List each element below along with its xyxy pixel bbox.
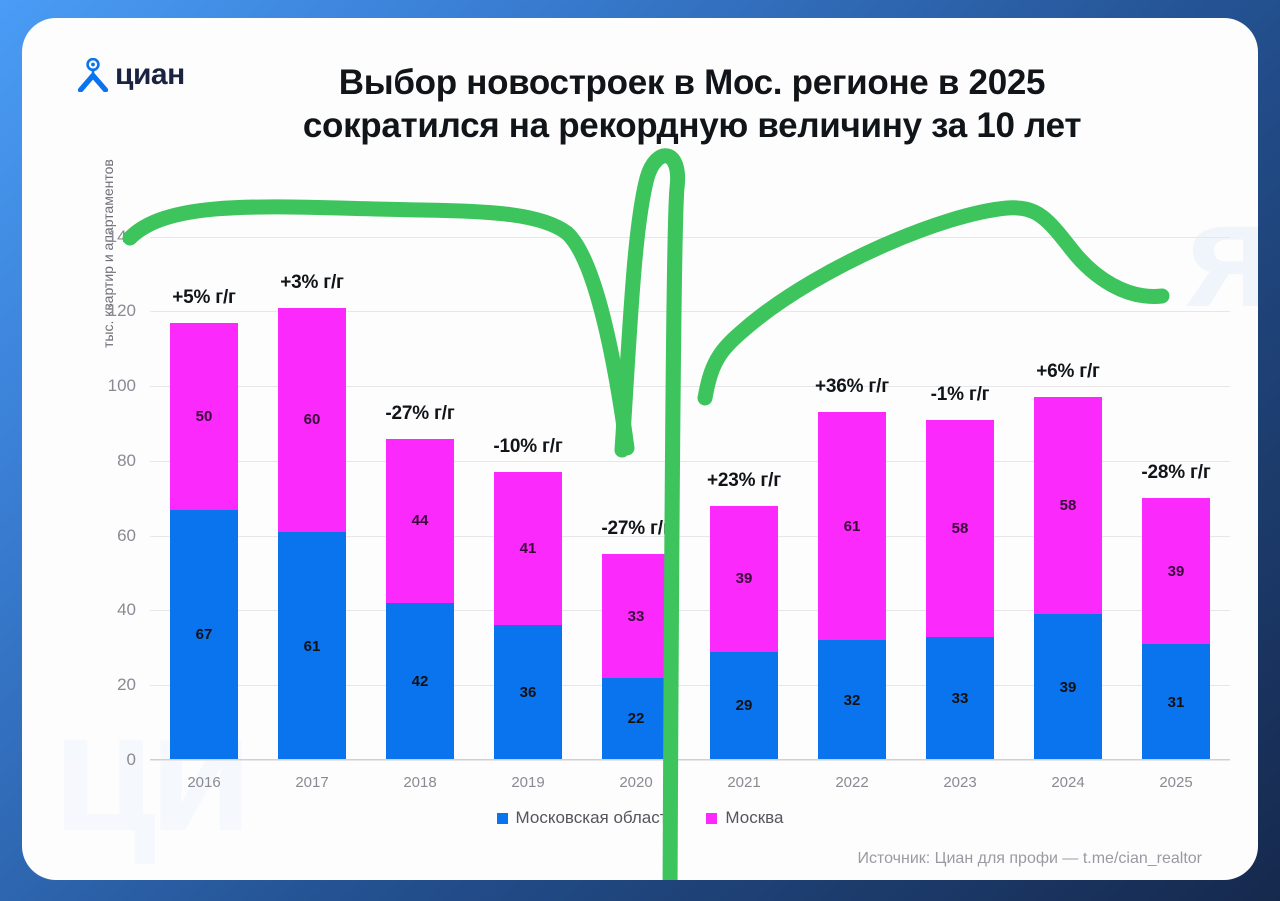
- bar-value-label: 33: [628, 608, 645, 625]
- x-axis-tick: 2016: [170, 774, 238, 791]
- bar-value-label: 58: [952, 520, 969, 537]
- growth-label: -27% г/г: [561, 518, 711, 540]
- bar-segment-moscow-region[interactable]: 31: [1142, 644, 1210, 760]
- legend-label: Москва: [725, 808, 783, 828]
- bar-segment-moscow[interactable]: 39: [1142, 498, 1210, 644]
- brand-logo: циан: [78, 58, 185, 92]
- y-axis-tick: 0: [127, 750, 136, 770]
- bar-segment-moscow-region[interactable]: 33: [926, 637, 994, 760]
- bar-value-label: 32: [844, 692, 861, 709]
- x-axis-tick: 2020: [602, 774, 670, 791]
- bar-value-label: 41: [520, 540, 537, 557]
- growth-label: -27% г/г: [345, 403, 495, 425]
- outer-frame: я ци циан Выбор новостроек в Мос. регион…: [0, 0, 1280, 901]
- bar-value-label: 60: [304, 411, 321, 428]
- x-axis-line: [150, 759, 1230, 761]
- bar-segment-moscow[interactable]: 39: [710, 506, 778, 652]
- bar-column[interactable]: 61602017: [278, 308, 346, 760]
- y-axis-tick: 40: [117, 600, 136, 620]
- bar-segment-moscow[interactable]: 50: [170, 323, 238, 510]
- bar-column[interactable]: 67502016: [170, 323, 238, 760]
- bar-value-label: 50: [196, 408, 213, 425]
- growth-label: +3% г/г: [237, 272, 387, 294]
- bar-column[interactable]: 36412019: [494, 472, 562, 760]
- gridline: [150, 237, 1230, 238]
- bar-segment-moscow-region[interactable]: 22: [602, 678, 670, 760]
- title-line-1: Выбор новостроек в Мос. регионе в 2025: [192, 62, 1192, 105]
- growth-label: -1% г/г: [885, 384, 1035, 406]
- bar-value-label: 39: [1168, 563, 1185, 580]
- brand-name: циан: [115, 60, 185, 90]
- chart-plot-area: 020406080100120140 67502016+5% г/г616020…: [150, 218, 1230, 760]
- bar-column[interactable]: 29392021: [710, 506, 778, 760]
- bar-segment-moscow[interactable]: 58: [1034, 397, 1102, 614]
- page-title: Выбор новостроек в Мос. регионе в 2025 с…: [192, 62, 1192, 147]
- bar-column[interactable]: 31392025: [1142, 498, 1210, 760]
- bar-segment-moscow[interactable]: 33: [602, 554, 670, 677]
- bar-value-label: 44: [412, 512, 429, 529]
- growth-label: -28% г/г: [1101, 462, 1251, 484]
- growth-label: -10% г/г: [453, 436, 603, 458]
- bar-column[interactable]: 32612022: [818, 412, 886, 760]
- gridline: [150, 760, 1230, 761]
- bar-value-label: 61: [304, 638, 321, 655]
- bar-column[interactable]: 22332020: [602, 554, 670, 760]
- y-axis-tick: 20: [117, 675, 136, 695]
- bar-column[interactable]: 42442018: [386, 439, 454, 760]
- bar-value-label: 58: [1060, 497, 1077, 514]
- bar-segment-moscow[interactable]: 41: [494, 472, 562, 625]
- infographic-card: я ци циан Выбор новостроек в Мос. регион…: [22, 18, 1258, 880]
- bar-segment-moscow-region[interactable]: 39: [1034, 614, 1102, 760]
- legend-swatch-pink: [706, 813, 717, 824]
- bar-segment-moscow-region[interactable]: 67: [170, 510, 238, 760]
- y-axis-tick: 100: [108, 376, 136, 396]
- x-axis-tick: 2021: [710, 774, 778, 791]
- bar-value-label: 39: [1060, 679, 1077, 696]
- cian-person-pin-icon: [78, 58, 108, 92]
- bar-segment-moscow-region[interactable]: 61: [278, 532, 346, 760]
- bar-value-label: 33: [952, 690, 969, 707]
- legend-label: Московская область: [516, 808, 677, 828]
- bar-segment-moscow[interactable]: 61: [818, 412, 886, 640]
- bar-segment-moscow[interactable]: 44: [386, 439, 454, 603]
- x-axis-tick: 2024: [1034, 774, 1102, 791]
- bar-segment-moscow-region[interactable]: 32: [818, 640, 886, 760]
- bar-value-label: 61: [844, 518, 861, 535]
- x-axis-tick: 2025: [1142, 774, 1210, 791]
- legend-swatch-blue: [497, 813, 508, 824]
- bar-value-label: 67: [196, 626, 213, 643]
- title-line-2: сократился на рекордную величину за 10 л…: [192, 105, 1192, 148]
- bar-value-label: 22: [628, 710, 645, 727]
- bar-value-label: 36: [520, 684, 537, 701]
- bar-segment-moscow[interactable]: 58: [926, 420, 994, 637]
- bar-column[interactable]: 33582023: [926, 420, 994, 760]
- legend-item[interactable]: Московская область: [497, 808, 677, 828]
- y-axis-tick: 60: [117, 526, 136, 546]
- bar-value-label: 29: [736, 697, 753, 714]
- bar-value-label: 39: [736, 570, 753, 587]
- bar-segment-moscow-region[interactable]: 42: [386, 603, 454, 760]
- bar-segment-moscow[interactable]: 60: [278, 308, 346, 532]
- x-axis-tick: 2022: [818, 774, 886, 791]
- legend-item[interactable]: Москва: [706, 808, 783, 828]
- chart-legend: Московская областьМосква: [22, 808, 1258, 828]
- bar-value-label: 31: [1168, 694, 1185, 711]
- growth-label: +6% г/г: [993, 361, 1143, 383]
- growth-label: +23% г/г: [669, 470, 819, 492]
- y-axis-tick: 140: [108, 227, 136, 247]
- x-axis-tick: 2019: [494, 774, 562, 791]
- bar-column[interactable]: 39582024: [1034, 397, 1102, 760]
- y-axis-tick: 80: [117, 451, 136, 471]
- bar-segment-moscow-region[interactable]: 29: [710, 652, 778, 760]
- x-axis-tick: 2018: [386, 774, 454, 791]
- source-note: Источник: Циан для профи — t.me/cian_rea…: [857, 850, 1202, 868]
- x-axis-tick: 2023: [926, 774, 994, 791]
- bar-value-label: 42: [412, 673, 429, 690]
- bar-segment-moscow-region[interactable]: 36: [494, 625, 562, 760]
- x-axis-tick: 2017: [278, 774, 346, 791]
